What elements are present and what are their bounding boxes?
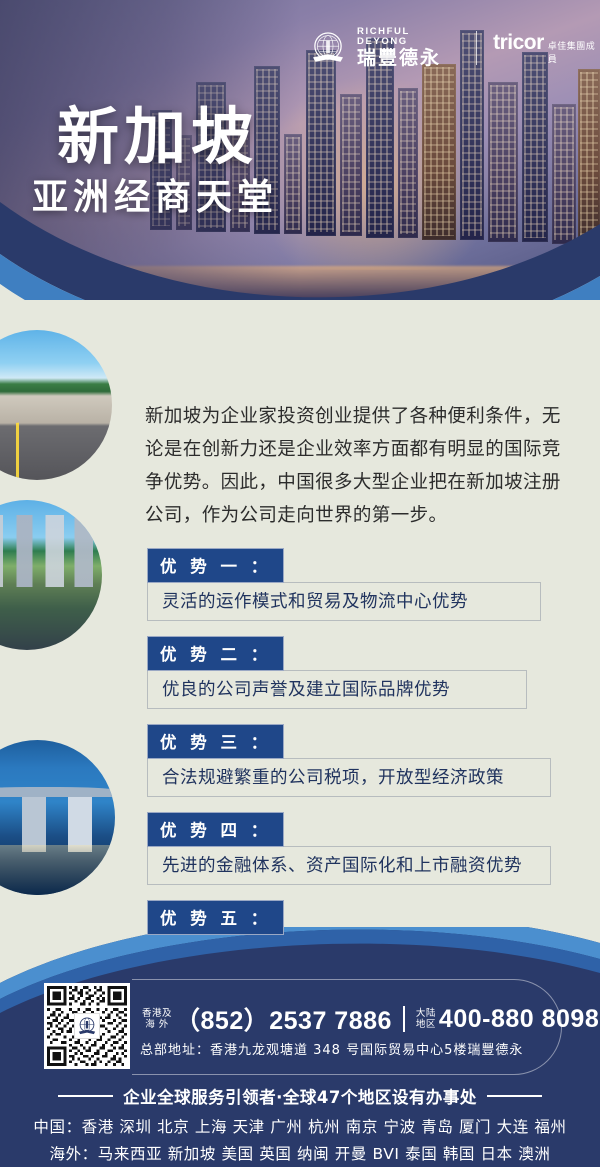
singapore-shophouse-street-photo: [0, 330, 112, 480]
partner-chinese-name: 卓佳集團成員: [548, 39, 600, 65]
hk-phone-label-line2: 海 外: [142, 1019, 172, 1030]
hk-phone-number[interactable]: （852）2537 7886: [175, 1001, 392, 1037]
slogan-rule-left: [58, 1095, 113, 1097]
locations-china: 中国：香港 深圳 北京 上海 天津 广州 杭州 南京 宁波 青岛 厦门 大连 福…: [0, 1115, 600, 1137]
advantage-text: 合法规避繁重的公司税项，开放型经济政策: [147, 758, 551, 797]
slogan-rule-right: [487, 1095, 542, 1097]
brand-chinese-name: 瑞豐德永: [357, 49, 460, 68]
advantage-label: 优 势 二 ：: [147, 636, 284, 671]
advantage-item: 优 势 二 ： 优良的公司声誉及建立国际品牌优势: [147, 636, 567, 709]
advantage-text: 先进的金融体系、资产国际化和上市融资优势: [147, 846, 551, 885]
phone-row: 香港及 海 外 （852）2537 7886 大陆 地区 400-880 809…: [142, 1001, 599, 1037]
intro-paragraph: 新加坡为企业家投资创业提供了各种便利条件，无论是在创新力还是企业效率方面都有明显…: [145, 400, 565, 532]
phone-divider: [403, 1006, 405, 1032]
locations-overseas: 海外：马来西亚 新加坡 美国 英国 纳闽 开曼 BVI 泰国 韩国 日本 澳洲: [0, 1142, 600, 1164]
qr-code[interactable]: [44, 983, 130, 1069]
cn-phone-label: 大陆 地区: [416, 1008, 436, 1030]
qr-center-crest-icon: [74, 1013, 100, 1039]
advantage-label: 优 势 三 ：: [147, 724, 284, 759]
slogan-text: 企业全球服务引领者·全球47个地区设有办事处: [123, 1084, 477, 1108]
poster-root: RICHFUL DEYONG 瑞豐德永 tricor 卓佳集團成員 新加坡 亚洲…: [0, 0, 600, 1167]
cn-phone-number[interactable]: 400-880 8098: [439, 1005, 599, 1034]
page-subtitle: 亚洲经商天堂: [32, 168, 278, 220]
advantage-text: 优良的公司声誉及建立国际品牌优势: [147, 670, 527, 709]
advantage-label: 优 势 一 ：: [147, 548, 284, 583]
logo-divider: [476, 31, 477, 65]
advantage-label: 优 势 五 ：: [147, 900, 284, 935]
marina-bay-sands-night-photo: [0, 740, 115, 895]
brand-english-name: RICHFUL DEYONG: [357, 27, 460, 46]
singapore-cityscape-photo: [0, 500, 102, 650]
brand-logo: RICHFUL DEYONG 瑞豐德永 tricor 卓佳集團成員: [308, 27, 600, 68]
partner-name: tricor: [493, 31, 544, 55]
page-title: 新加坡: [57, 86, 258, 176]
advantage-text: 灵活的运作模式和贸易及物流中心优势: [147, 582, 541, 621]
footer-panel: 香港及 海 外 （852）2537 7886 大陆 地区 400-880 809…: [0, 927, 600, 1167]
advantage-item: 优 势 四 ： 先进的金融体系、资产国际化和上市融资优势: [147, 812, 567, 885]
slogan-row: 企业全球服务引领者·全球47个地区设有办事处: [0, 1084, 600, 1108]
advantage-label: 优 势 四 ：: [147, 812, 284, 847]
advantage-item: 优 势 一 ： 灵活的运作模式和贸易及物流中心优势: [147, 548, 567, 621]
hk-phone-label-line1: 香港及: [142, 1008, 172, 1019]
hk-phone-label: 香港及 海 外: [142, 1008, 172, 1030]
hero-banner: RICHFUL DEYONG 瑞豐德永 tricor 卓佳集團成員 新加坡 亚洲…: [0, 0, 600, 300]
cn-phone-label-line2: 地区: [416, 1019, 436, 1030]
advantage-list: 优 势 一 ： 灵活的运作模式和贸易及物流中心优势 优 势 二 ： 优良的公司声…: [147, 548, 567, 988]
cn-phone-label-line1: 大陆: [416, 1008, 436, 1019]
company-crest-icon: [308, 28, 348, 68]
advantage-item: 优 势 三 ： 合法规避繁重的公司税项，开放型经济政策: [147, 724, 567, 797]
hq-address: 总部地址：香港九龙观塘道 348 号国际贸易中心5楼瑞豐德永: [140, 1039, 523, 1058]
